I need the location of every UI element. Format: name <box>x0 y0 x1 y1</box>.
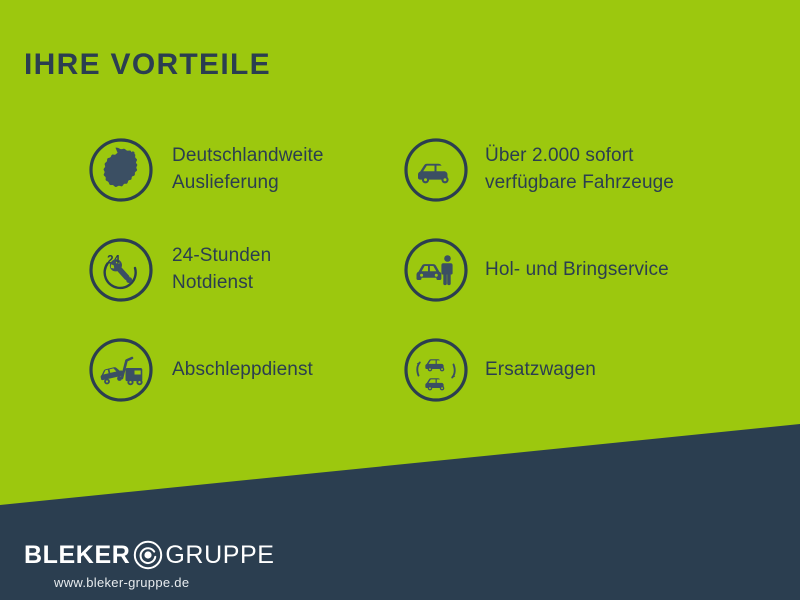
benefits-right-column: Über 2.000 sofort verfügbare Fahrzeuge H… <box>403 120 743 420</box>
footer-website-url[interactable]: www.bleker-gruppe.de <box>54 575 275 590</box>
clock-24-wrench-icon: 24 <box>88 237 154 303</box>
footer-logo[interactable]: BLEKER GRUPPE www.bleker-gruppe.de <box>24 540 275 590</box>
logo-wordmark-row: BLEKER GRUPPE <box>24 540 275 570</box>
page-title: IHRE VORTEILE <box>24 50 271 80</box>
tow-truck-icon <box>88 337 154 403</box>
benefit-item-verfuegbare-fahrzeuge[interactable]: Über 2.000 sofort verfügbare Fahrzeuge <box>403 120 743 220</box>
logo-secondary-text: GRUPPE <box>165 543 274 568</box>
benefit-item-24-stunden-notdienst[interactable]: 24 24-Stunden Notdienst <box>88 220 388 320</box>
two-cars-exchange-icon <box>403 337 469 403</box>
benefit-label: Über 2.000 sofort verfügbare Fahrzeuge <box>485 143 674 197</box>
benefit-item-hol-und-bringservice[interactable]: Hol- und Bringservice <box>403 220 743 320</box>
benefit-item-ersatzwagen[interactable]: Ersatzwagen <box>403 320 743 420</box>
car-icon <box>403 137 469 203</box>
benefit-item-abschleppdienst[interactable]: Abschleppdienst <box>88 320 388 420</box>
logo-primary-text: BLEKER <box>24 543 130 568</box>
benefit-label: Deutschlandweite Auslieferung <box>172 143 324 197</box>
slide-root: IHRE VORTEILE Deutschlandweite Ausliefer… <box>0 0 800 600</box>
benefit-item-deutschlandweite-auslieferung[interactable]: Deutschlandweite Auslieferung <box>88 120 388 220</box>
spiral-swirl-icon <box>132 539 164 571</box>
benefit-label: Ersatzwagen <box>485 357 596 384</box>
benefits-left-column: Deutschlandweite Auslieferung 24 24-Stun… <box>88 120 388 420</box>
car-with-person-icon <box>403 237 469 303</box>
germany-map-icon <box>88 137 154 203</box>
benefit-label: 24-Stunden Notdienst <box>172 243 271 297</box>
benefit-label: Hol- und Bringservice <box>485 257 669 284</box>
benefit-label: Abschleppdienst <box>172 357 313 384</box>
